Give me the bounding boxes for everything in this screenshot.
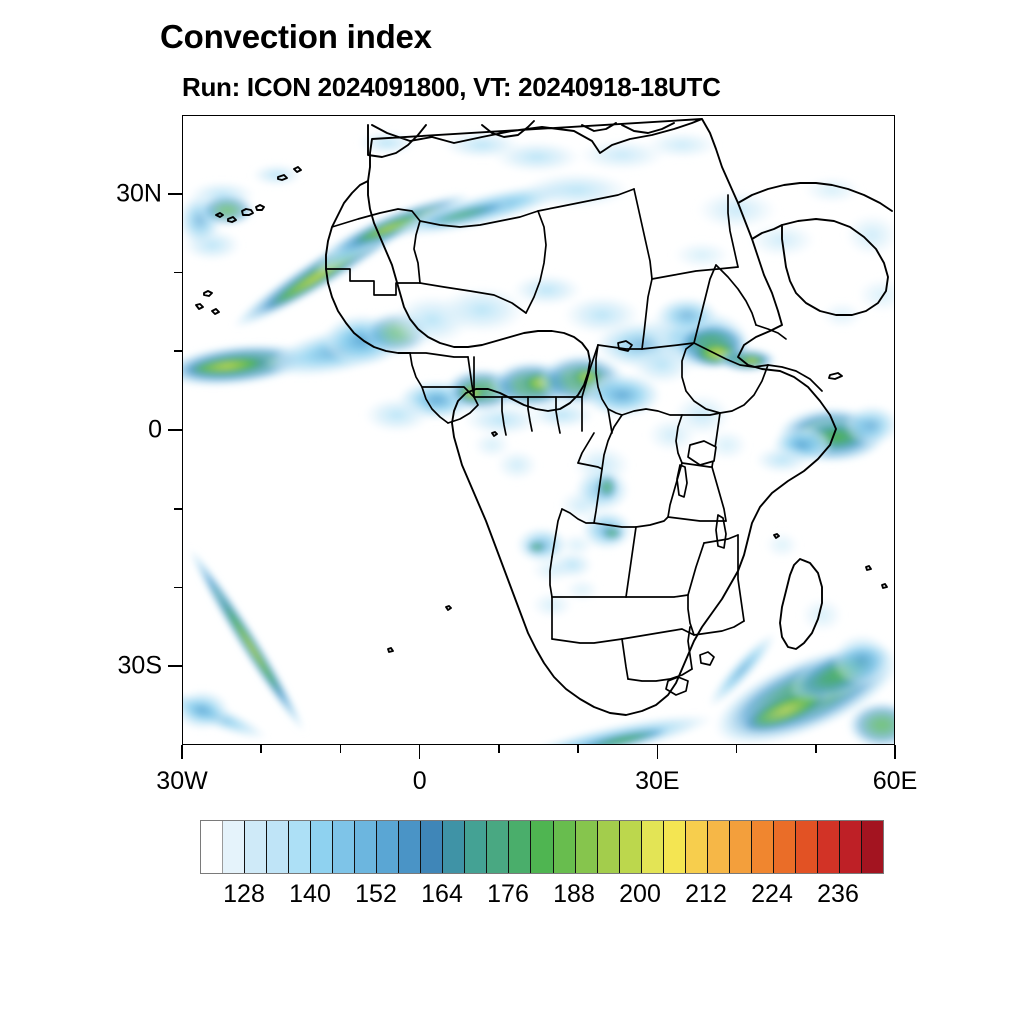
y-tick--10: [174, 508, 182, 510]
colorbar-cell: [465, 821, 487, 873]
colorbar-tick-128: 128: [223, 880, 265, 909]
colorbar-cell: [664, 821, 686, 873]
colorbar-cell: [443, 821, 465, 873]
y-axis-label-0: 0: [92, 416, 162, 445]
colorbar-cell: [267, 821, 289, 873]
x-tick-10: [498, 745, 500, 753]
colorbar-tick-176: 176: [487, 880, 529, 909]
y-axis-label-30N: 30N: [92, 179, 162, 208]
colorbar-cell: [487, 821, 509, 873]
x-tick-60E: [894, 745, 896, 759]
colorbar-cell: [576, 821, 598, 873]
colorbar-cell: [399, 821, 421, 873]
colorbar-cell: [620, 821, 642, 873]
colorbar-cell: [421, 821, 443, 873]
colorbar-cell: [333, 821, 355, 873]
colorbar-cell: [531, 821, 553, 873]
y-tick-30S: [168, 665, 182, 667]
colorbar-cell: [289, 821, 311, 873]
colorbar-cell: [598, 821, 620, 873]
colorbar-cell: [840, 821, 862, 873]
colorbar-cell: [554, 821, 576, 873]
colorbar-cell: [245, 821, 267, 873]
colorbar-tick-212: 212: [685, 880, 727, 909]
x-tick-30W: [181, 745, 183, 759]
x-tick-0: [419, 745, 421, 759]
y-tick--20: [174, 587, 182, 589]
colorbar-cell: [686, 821, 708, 873]
y-tick-20: [174, 272, 182, 274]
page-title: Convection index: [160, 18, 432, 56]
x-axis-label-60E: 60E: [873, 767, 917, 796]
colorbar-tick-200: 200: [619, 880, 661, 909]
colorbar-cells[interactable]: [200, 820, 884, 874]
colorbar-tick-188: 188: [553, 880, 595, 909]
x-tick-20: [577, 745, 579, 753]
colorbar-cell: [642, 821, 664, 873]
colorbar-cell: [223, 821, 245, 873]
colorbar-cell: [730, 821, 752, 873]
colorbar-cell: [774, 821, 796, 873]
y-tick-0: [168, 429, 182, 431]
colorbar-tick-164: 164: [421, 880, 463, 909]
colorbar-tick-labels: 128140152164176188200212224236: [200, 880, 884, 920]
colorbar-cell: [201, 821, 223, 873]
x-tick-40: [736, 745, 738, 753]
colorbar-cell: [796, 821, 818, 873]
colorbar-cell: [509, 821, 531, 873]
convection-map: [182, 115, 895, 745]
map-plot-area[interactable]: [182, 115, 895, 745]
x-axis-label-0: 0: [413, 767, 427, 796]
x-tick-30E: [657, 745, 659, 759]
y-axis-label-30S: 30S: [92, 652, 162, 681]
colorbar-tick-224: 224: [751, 880, 793, 909]
colorbar-cell: [355, 821, 377, 873]
colorbar-tick-140: 140: [289, 880, 331, 909]
colorbar-cell: [862, 821, 883, 873]
colorbar-tick-152: 152: [355, 880, 397, 909]
colorbar-cell: [752, 821, 774, 873]
colorbar-cell: [708, 821, 730, 873]
y-tick-30N: [168, 193, 182, 195]
colorbar-cell: [377, 821, 399, 873]
colorbar-tick-236: 236: [817, 880, 859, 909]
x-tick--20: [260, 745, 262, 753]
colorbar-cell: [818, 821, 840, 873]
page-subtitle: Run: ICON 2024091800, VT: 20240918-18UTC: [182, 72, 721, 103]
x-tick-50: [815, 745, 817, 753]
y-tick-10: [174, 350, 182, 352]
x-axis-label-30W: 30W: [156, 767, 207, 796]
x-tick--10: [340, 745, 342, 753]
colorbar[interactable]: 128140152164176188200212224236: [200, 820, 884, 920]
colorbar-cell: [311, 821, 333, 873]
x-axis-label-30E: 30E: [635, 767, 679, 796]
